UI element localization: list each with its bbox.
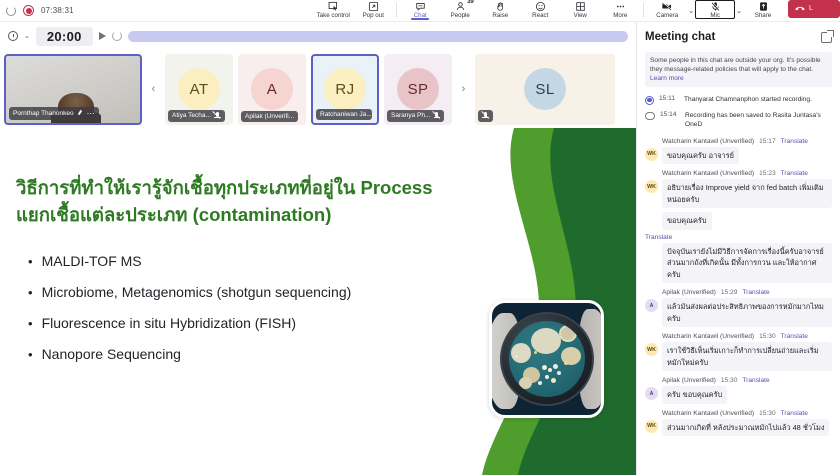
camera-button[interactable]: Camera xyxy=(647,0,687,19)
translate-link[interactable]: Translate xyxy=(781,410,808,417)
participant-name: Pornthap Thanonkeo xyxy=(13,110,74,117)
mic-button[interactable]: Mic xyxy=(695,0,735,19)
cursor-box-icon xyxy=(328,1,339,12)
message-bubble: ครับ ขอบคุณครับ xyxy=(662,386,727,404)
toolbar-divider-2 xyxy=(643,3,644,18)
record-icon xyxy=(645,96,654,105)
message-author: Watcharin Kantawil (Unverified) xyxy=(662,170,754,177)
system-message-time: 15:11 xyxy=(659,95,679,102)
notice-text: Some people in this chat are outside you… xyxy=(650,57,821,73)
message-author: Watcharin Kantawil (Unverified) xyxy=(662,333,754,340)
timer-chevron-down-icon[interactable]: ⌄ xyxy=(24,32,30,40)
pop-out-label: Pop out xyxy=(363,12,384,19)
take-control-button[interactable]: Take control xyxy=(313,0,353,19)
share-up-icon xyxy=(758,1,769,12)
list-item: • Fluorescence in situ Hybridization (FI… xyxy=(28,308,448,339)
message-author: Watcharin Kantawil (Unverified) xyxy=(662,410,754,417)
chat-panel-header: Meeting chat xyxy=(637,22,840,52)
mic-off-icon xyxy=(214,112,221,120)
chat-message: Apilak (Unverified) 15:30 Translate A คร… xyxy=(645,377,832,404)
system-message-time: 15:14 xyxy=(660,111,680,118)
chat-message: Apilak (Unverified) 15:29 Translate A แล… xyxy=(645,289,832,327)
chat-message: Watcharin Kantawil (Unverified) 15:17 Tr… xyxy=(645,138,832,165)
share-label: Share xyxy=(755,12,772,19)
people-button[interactable]: 39 People xyxy=(440,0,480,19)
view-button[interactable]: View xyxy=(560,0,600,19)
system-message-text: Recording has been saved to Rasita Junta… xyxy=(685,111,832,129)
more-label: More xyxy=(613,12,627,19)
mic-off-icon xyxy=(482,112,489,120)
popout-icon[interactable] xyxy=(821,32,832,43)
tile-more-icon[interactable]: ⋯ xyxy=(87,109,96,118)
participant-name-chip: Pornthap Thanonkeo ⋯ xyxy=(9,107,99,120)
message-meta: Watcharin Kantawil (Unverified) 15:30 Tr… xyxy=(645,410,832,417)
share-button[interactable]: Share xyxy=(743,0,783,19)
message-bubble: ขอบคุณครับ อาจารย์ xyxy=(662,147,739,165)
bullet-icon: • xyxy=(28,309,33,339)
timer-play-button[interactable] xyxy=(99,32,106,40)
camera-off-icon xyxy=(661,1,673,12)
bullet-text: MALDI-TOF MS xyxy=(42,246,142,276)
filmstrip-prev-button[interactable]: ‹ xyxy=(147,83,160,95)
view-label: View xyxy=(574,12,587,19)
external-org-notice: Some people in this chat are outside you… xyxy=(645,52,832,87)
translate-link[interactable]: Translate xyxy=(781,138,808,145)
participant-name: Saranya Ph... xyxy=(391,112,430,119)
participant-mute-chip xyxy=(478,110,493,122)
bullet-text: Nanopore Sequencing xyxy=(42,339,181,369)
avatar: A xyxy=(645,299,658,312)
message-bubble: อธิบายเรื่อง Improve yield จาก fed batch… xyxy=(662,179,832,208)
mic-off-icon xyxy=(433,112,440,120)
ellipsis-icon xyxy=(615,1,626,12)
message-meta: Watcharin Kantawil (Unverified) 15:23 Tr… xyxy=(645,170,832,177)
participant-name: Apilak (Unverifi... xyxy=(245,113,294,120)
message-bubble: ปัจจุบันเรายังไม่มีวิธีการจัดการเรื่องนี… xyxy=(662,243,832,284)
participant-name-chip: Ratchaniwan Ja... xyxy=(316,109,372,120)
raise-label: Raise xyxy=(492,12,508,19)
participant-name-chip: Atiya Techa... xyxy=(168,110,225,122)
bullet-text: Microbiome, Metagenomics (shotgun sequen… xyxy=(42,277,352,307)
bullet-icon: • xyxy=(28,247,33,277)
translate-link[interactable]: Translate xyxy=(742,289,769,296)
people-count-badge: 39 xyxy=(467,0,474,5)
participant-name: Ratchaniwan Ja... xyxy=(320,111,372,118)
message-time: 15:30 xyxy=(759,410,776,417)
learn-more-link[interactable]: Learn more xyxy=(650,75,684,82)
timer-progress-bar[interactable] xyxy=(128,31,628,42)
list-item: • Microbiome, Metagenomics (shotgun sequ… xyxy=(28,277,448,308)
chat-message: Watcharin Kantawil (Unverified) 15:30 Tr… xyxy=(645,333,832,371)
meeting-chat-panel: Meeting chat Some people in this chat ar… xyxy=(636,22,840,475)
participant-filmstrip: Pornthap Thanonkeo ⋯ ‹ AT Atiya Techa...… xyxy=(0,50,636,128)
avatar: A xyxy=(251,68,293,110)
meeting-toolbar: 07:38:31 Take control Pop out Ch xyxy=(0,0,840,22)
mic-label: Mic xyxy=(710,12,720,19)
message-meta: Translate xyxy=(645,234,832,241)
participant-tile-saranya[interactable]: SP Saranya Ph... xyxy=(384,54,452,125)
people-label: People xyxy=(451,12,470,19)
message-bubble: เราใช้วิธีเห็นเริ่มเกาะก็ทำการเปลี่ยนถ่า… xyxy=(662,342,832,371)
message-meta: Watcharin Kantawil (Unverified) 15:17 Tr… xyxy=(645,138,832,145)
person-icon: 39 xyxy=(455,1,466,12)
system-message-recording-saved: 15:14 Recording has been saved to Rasita… xyxy=(645,108,832,132)
message-time: 15:23 xyxy=(759,170,776,177)
message-meta: Watcharin Kantawil (Unverified) 15:30 Tr… xyxy=(645,333,832,340)
pop-out-button[interactable]: Pop out xyxy=(353,0,393,19)
raise-hand-button[interactable]: Raise xyxy=(480,0,520,19)
chat-message: Watcharin Kantawil (Unverified) 15:23 Tr… xyxy=(645,170,832,283)
petri-dish-image xyxy=(489,300,604,418)
message-time: 15:30 xyxy=(721,377,738,384)
timer-value: 20:00 xyxy=(36,27,93,46)
avatar: AT xyxy=(178,68,220,110)
slide-bullet-list: • MALDI-TOF MS • Microbiome, Metagenomic… xyxy=(28,246,448,370)
avatar: SP xyxy=(397,68,439,110)
hangup-icon xyxy=(794,3,806,14)
teams-meeting-window: 07:38:31 Take control Pop out Ch xyxy=(0,0,840,475)
avatar: A xyxy=(645,387,658,400)
bullet-icon: • xyxy=(28,340,33,370)
participant-name-chip: Saranya Ph... xyxy=(387,110,444,122)
slide-title: วิธีการที่ทำให้เรารู้จักเชื้อทุกประเภทที… xyxy=(16,174,466,228)
avatar: SL xyxy=(524,68,566,110)
petri-dish xyxy=(500,312,594,406)
react-label: React xyxy=(532,12,548,19)
timer-reset-button[interactable] xyxy=(112,31,122,41)
participant-tile-atiya[interactable]: AT Atiya Techa... xyxy=(165,54,233,125)
message-time: 15:30 xyxy=(759,333,776,340)
chat-label: Chat xyxy=(414,12,427,19)
recording-timer: 07:38:31 xyxy=(41,6,74,15)
filmstrip-next-button[interactable]: › xyxy=(457,83,470,95)
mic-chevron-down-icon[interactable]: ⌄ xyxy=(735,7,743,15)
hand-icon xyxy=(495,1,506,12)
meeting-timer-bar: ⌄ 20:00 xyxy=(0,22,636,50)
message-row: WK ส่วนมากเกิดที่ หลังประมาณหมักไปแล้ว 4… xyxy=(645,419,832,437)
message-row: WK เราใช้วิธีเห็นเริ่มเกาะก็ทำการเปลี่ยน… xyxy=(645,342,832,371)
arrow-out-box-icon xyxy=(368,1,379,12)
avatar: WK xyxy=(645,148,658,161)
message-row: WK อธิบายเรื่อง Improve yield จาก fed ba… xyxy=(645,179,832,208)
leave-label: L xyxy=(809,5,813,12)
more-button[interactable]: More xyxy=(600,0,640,19)
message-row: WK ขอบคุณครับ อาจารย์ xyxy=(645,147,832,165)
translate-link[interactable]: Translate xyxy=(742,377,769,384)
chat-button[interactable]: Chat xyxy=(400,0,440,19)
avatar: WK xyxy=(645,343,658,356)
chat-bubble-icon xyxy=(415,1,426,12)
participant-name-chip: Apilak (Unverifi... xyxy=(241,111,298,122)
translate-link[interactable]: Translate xyxy=(781,333,808,340)
clock-icon xyxy=(8,31,18,41)
bullet-icon: • xyxy=(28,278,33,308)
list-item: • MALDI-TOF MS xyxy=(28,246,448,277)
participant-tile-pornthap[interactable]: Pornthap Thanonkeo ⋯ xyxy=(4,54,142,125)
camera-chevron-down-icon[interactable]: ⌄ xyxy=(687,7,695,15)
message-author: Watcharin Kantawil (Unverified) xyxy=(662,138,754,145)
camera-label: Camera xyxy=(656,12,678,19)
recording-icon xyxy=(23,5,34,16)
message-meta: Apilak (Unverified) 15:30 Translate xyxy=(645,377,832,384)
message-meta: Apilak (Unverified) 15:29 Translate xyxy=(645,289,832,296)
system-message-text: Thanyarat Chamnanphon started recording. xyxy=(684,95,812,104)
smiley-icon xyxy=(535,1,546,12)
message-author: Apilak (Unverified) xyxy=(662,289,716,296)
recording-status: 07:38:31 xyxy=(0,5,313,16)
react-button[interactable]: React xyxy=(520,0,560,19)
shared-content-stage: วิธีการที่ทำให้เรารู้จักเชื้อทุกประเภทที… xyxy=(0,128,636,475)
list-item: • Nanopore Sequencing xyxy=(28,339,448,370)
participant-tile-sl[interactable]: SL xyxy=(475,54,615,125)
message-time: 15:17 xyxy=(759,138,776,145)
take-control-label: Take control xyxy=(317,12,350,19)
translate-link[interactable]: Translate xyxy=(781,170,808,177)
message-row: A ครับ ขอบคุณครับ xyxy=(645,386,832,404)
cloud-icon xyxy=(645,112,655,120)
message-bubble: ขอบคุณครับ xyxy=(662,212,712,230)
participant-name: Atiya Techa... xyxy=(172,112,211,119)
chat-message: Watcharin Kantawil (Unverified) 15:30 Tr… xyxy=(645,410,832,437)
bullet-text: Fluorescence in situ Hybridization (FISH… xyxy=(42,308,296,338)
toolbar-buttons: Take control Pop out Chat 39 xyxy=(313,0,840,22)
message-bubble: แล้วมันส่งผลต่อประสิทธิภาพของการหมักมากไ… xyxy=(662,298,832,327)
message-row: ปัจจุบันเรายังไม่มีวิธีการจัดการเรื่องนี… xyxy=(645,243,832,284)
chat-message-list[interactable]: Some people in this chat are outside you… xyxy=(637,52,840,475)
system-message-recording-started: 15:11 Thanyarat Chamnanphon started reco… xyxy=(645,92,832,108)
translate-link[interactable]: Translate xyxy=(645,234,672,241)
message-row: ขอบคุณครับ xyxy=(645,212,832,230)
participant-tile-apilak[interactable]: A Apilak (Unverifi... xyxy=(238,54,306,125)
message-row: A แล้วมันส่งผลต่อประสิทธิภาพของการหมักมา… xyxy=(645,298,832,327)
loading-spinner-icon xyxy=(6,6,16,16)
toolbar-divider xyxy=(396,3,397,18)
message-author: Apilak (Unverified) xyxy=(662,377,716,384)
agar-surface xyxy=(509,321,585,397)
avatar: WK xyxy=(645,420,658,433)
chat-panel-title: Meeting chat xyxy=(645,31,715,43)
grid-icon xyxy=(575,1,586,12)
leave-call-button[interactable]: L xyxy=(788,0,840,18)
avatar: RJ xyxy=(324,68,366,110)
avatar: WK xyxy=(645,180,658,193)
mic-off-icon xyxy=(710,1,721,12)
pin-icon[interactable] xyxy=(77,110,84,117)
message-bubble: ส่วนมากเกิดที่ หลังประมาณหมักไปแล้ว 48 ช… xyxy=(662,419,829,437)
message-time: 15:29 xyxy=(721,289,738,296)
participant-tile-ratchaniwan[interactable]: RJ Ratchaniwan Ja... xyxy=(311,54,379,125)
